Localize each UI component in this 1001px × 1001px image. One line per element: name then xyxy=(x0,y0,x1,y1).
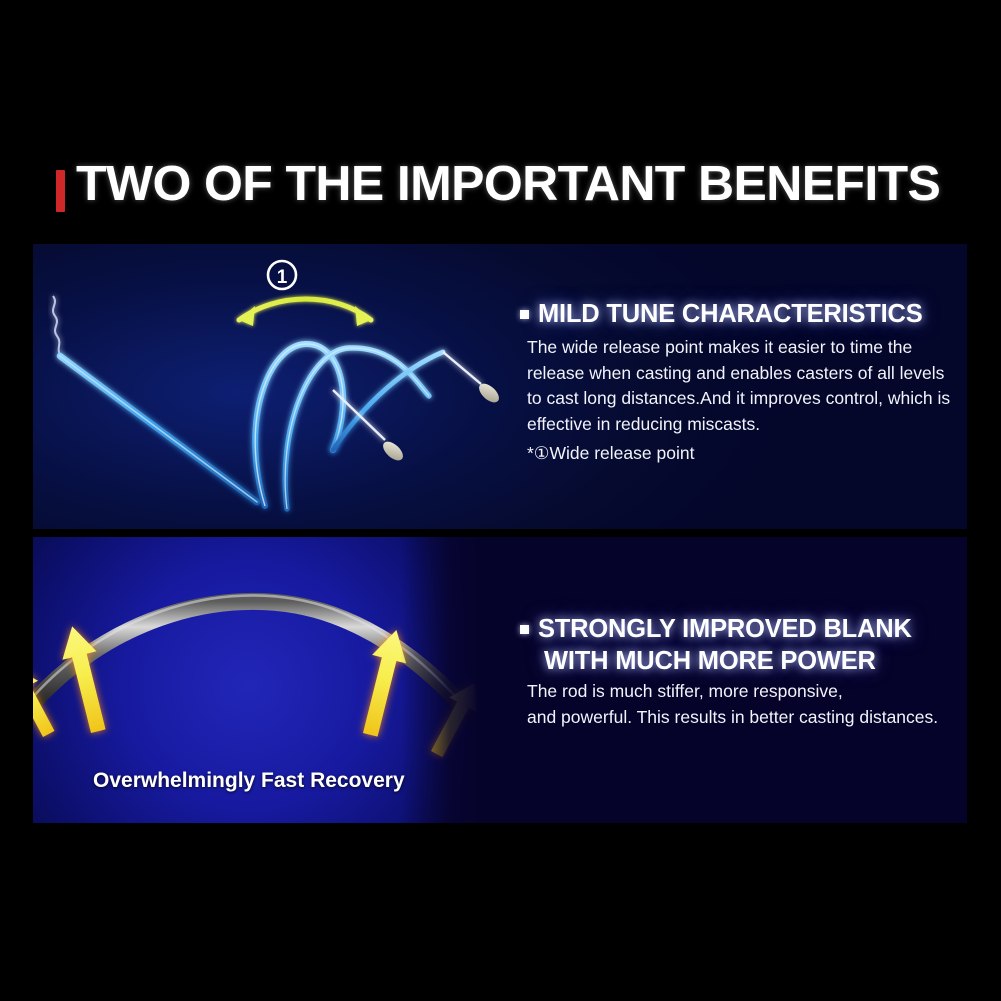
marker-circle-one: 1 xyxy=(268,261,296,289)
benefit-panel-mild-tune: 1 MILD TUNE CHARACTERISTICS The wide rel… xyxy=(33,244,967,529)
page-title: TWO OF THE IMPORTANT BENEFITS xyxy=(76,156,940,212)
improved-blank-heading: STRONGLY IMPROVED BLANK WITH MUCH MORE P… xyxy=(520,613,967,677)
fishing-rod-cast-arc-diagram: 1 xyxy=(33,244,503,529)
square-bullet-icon xyxy=(520,310,529,319)
improved-blank-text-block: STRONGLY IMPROVED BLANK WITH MUCH MORE P… xyxy=(488,537,967,823)
square-bullet-icon xyxy=(520,625,529,634)
benefit-panel-improved-blank: Overwhelmingly Fast Recovery STRONGLY IM… xyxy=(33,537,967,823)
mild-tune-heading: MILD TUNE CHARACTERISTICS xyxy=(520,300,923,329)
mild-tune-text-block: MILD TUNE CHARACTERISTICS The wide relea… xyxy=(488,244,967,529)
page-header: TWO OF THE IMPORTANT BENEFITS xyxy=(0,150,1001,228)
recovery-caption: Overwhelmingly Fast Recovery xyxy=(93,769,405,793)
improved-blank-heading-line1: STRONGLY IMPROVED BLANK xyxy=(538,615,912,643)
svg-text:1: 1 xyxy=(277,267,288,288)
improved-blank-heading-line2: WITH MUCH MORE POWER xyxy=(520,645,967,677)
mild-tune-footnote: *①Wide release point xyxy=(527,443,694,464)
mild-tune-body: The wide release point makes it easier t… xyxy=(527,335,950,437)
bent-rod-recovery-diagram: Overwhelmingly Fast Recovery xyxy=(33,537,481,823)
release-range-arrow xyxy=(239,299,371,326)
title-accent-bar xyxy=(56,170,65,212)
mild-tune-heading-label: MILD TUNE CHARACTERISTICS xyxy=(538,300,923,328)
improved-blank-body: The rod is much stiffer, more responsive… xyxy=(527,679,938,730)
